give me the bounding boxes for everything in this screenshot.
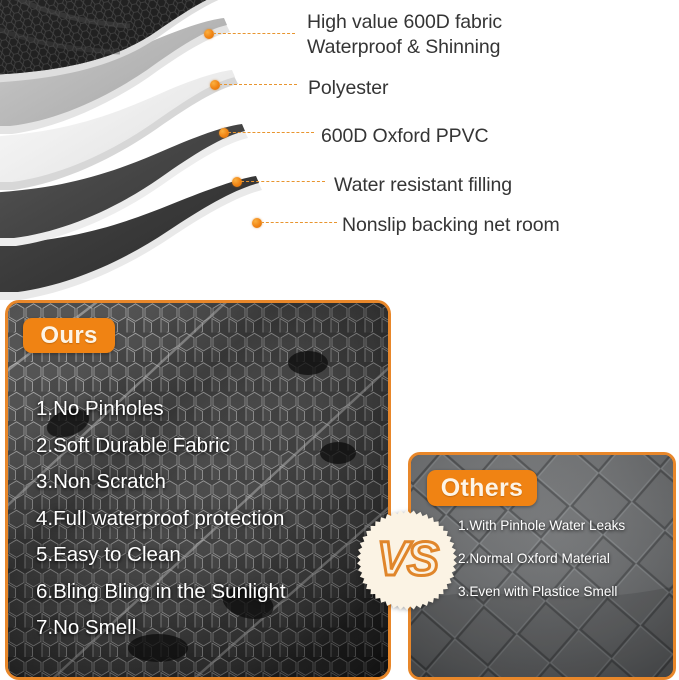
callout-line-2a: Polyester: [308, 76, 388, 101]
vs-label: VS: [355, 508, 459, 612]
ours-list-item: 6.Bling Bling in the Sunlight: [36, 580, 384, 604]
leader-dot-icon: [210, 80, 220, 90]
fabric-layer-illustration: [0, 0, 330, 300]
callout-line-5a: Nonslip backing net room: [342, 213, 560, 238]
leader-dot-icon: [219, 128, 229, 138]
callout-line-1b: Waterproof & Shinning: [307, 35, 502, 60]
callout-label-4: Water resistant filling: [334, 173, 512, 198]
callout-line-1a: High value 600D fabric: [307, 10, 502, 35]
ours-tag-label: Ours: [40, 322, 97, 350]
ours-feature-list: 1.No Pinholes 2.Soft Durable Fabric 3.No…: [36, 397, 384, 653]
callout-line-3a: 600D Oxford PPVC: [321, 124, 488, 149]
callout-label-2: Polyester: [308, 76, 388, 101]
ours-panel: Ours 1.No Pinholes 2.Soft Durable Fabric…: [5, 300, 391, 680]
leader-line-1: [204, 33, 300, 35]
ours-list-item: 4.Full waterproof protection: [36, 507, 384, 531]
vs-badge: VS: [355, 508, 459, 612]
ours-list-item: 7.No Smell: [36, 616, 384, 640]
ours-list-item: 3.Non Scratch: [36, 470, 384, 494]
ours-list-item: 5.Easy to Clean: [36, 543, 384, 567]
leader-line-4: [232, 181, 330, 183]
leader-dot-icon: [232, 177, 242, 187]
others-tag: Others: [427, 470, 537, 506]
leader-dot-icon: [204, 29, 214, 39]
leader-line-5: [252, 222, 342, 224]
leader-line-2: [210, 84, 302, 86]
others-feature-list: 1.With Pinhole Water Leaks 2.Normal Oxfo…: [458, 517, 673, 616]
leader-dot-icon: [252, 218, 262, 228]
others-list-item: 1.With Pinhole Water Leaks: [458, 517, 673, 534]
leader-line-3: [219, 132, 319, 134]
callout-label-5: Nonslip backing net room: [342, 213, 560, 238]
others-list-item: 3.Even with Plastice Smell: [458, 583, 673, 600]
comparison-section: Ours 1.No Pinholes 2.Soft Durable Fabric…: [0, 296, 679, 680]
callout-label-1: High value 600D fabric Waterproof & Shin…: [307, 10, 502, 60]
ours-list-item: 1.No Pinholes: [36, 397, 384, 421]
ours-tag: Ours: [23, 318, 115, 353]
layered-fabric-diagram: High value 600D fabric Waterproof & Shin…: [0, 0, 679, 300]
ours-list-item: 2.Soft Durable Fabric: [36, 434, 384, 458]
callout-label-3: 600D Oxford PPVC: [321, 124, 488, 149]
others-tag-label: Others: [441, 474, 523, 503]
others-list-item: 2.Normal Oxford Material: [458, 550, 673, 567]
callout-line-4a: Water resistant filling: [334, 173, 512, 198]
